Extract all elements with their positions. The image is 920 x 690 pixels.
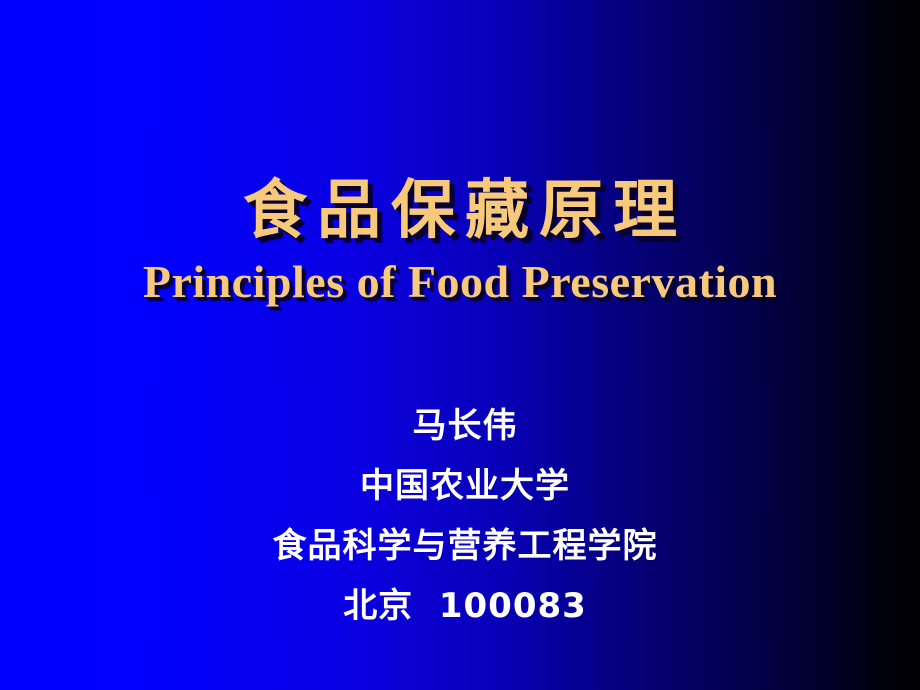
slide-title-chinese: 食品保藏原理 (0, 172, 920, 250)
college-name: 食品科学与营养工程学院 (5, 516, 920, 576)
slide-affiliation-block: 马长伟 中国农业大学 食品科学与营养工程学院 北京 100083 (0, 396, 920, 636)
city-postal-code: 北京 100083 (5, 576, 920, 636)
author-name: 马长伟 (5, 396, 920, 456)
university-name: 中国农业大学 (5, 456, 920, 516)
slide-title-english: Principles of Food Preservation (0, 256, 920, 308)
slide-title-block: 食品保藏原理 Principles of Food Preservation (0, 172, 920, 308)
presentation-slide: 食品保藏原理 Principles of Food Preservation 马… (0, 0, 920, 690)
